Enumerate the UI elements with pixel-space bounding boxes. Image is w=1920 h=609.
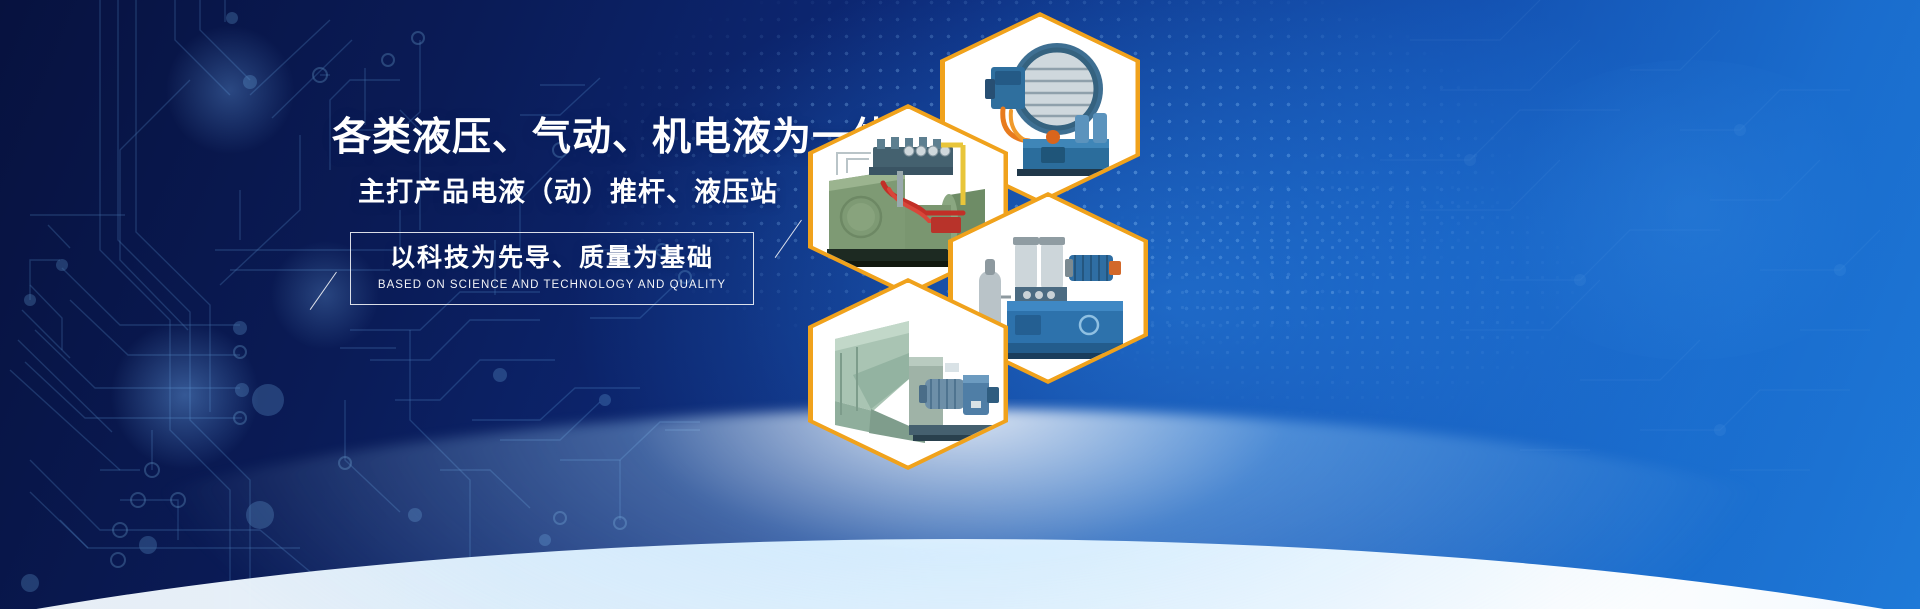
slogan-english: BASED ON SCIENCE AND TECHNOLOGY AND QUAL… (378, 280, 726, 292)
banner-headline: 各类液压、气动、机电液为一体 (332, 118, 788, 157)
product-hexagon-cluster (780, 0, 1180, 490)
slogan-box: 以科技为先导、质量为基础 BASED ON SCIENCE AND TECHNO… (350, 232, 754, 305)
hero-banner: 各类液压、气动、机电液为一体 主打产品电液（动）推杆、液压站 以科技为先导、质量… (0, 0, 1920, 609)
slogan-chinese: 以科技为先导、质量为基础 (390, 246, 714, 271)
banner-subheadline: 主打产品电液（动）推杆、液压站 (358, 179, 788, 206)
slogan-block: 以科技为先导、质量为基础 BASED ON SCIENCE AND TECHNO… (350, 232, 788, 305)
banner-copy: 各类液压、气动、机电液为一体 主打产品电液（动）推杆、液压站 以科技为先导、质量… (318, 118, 788, 305)
